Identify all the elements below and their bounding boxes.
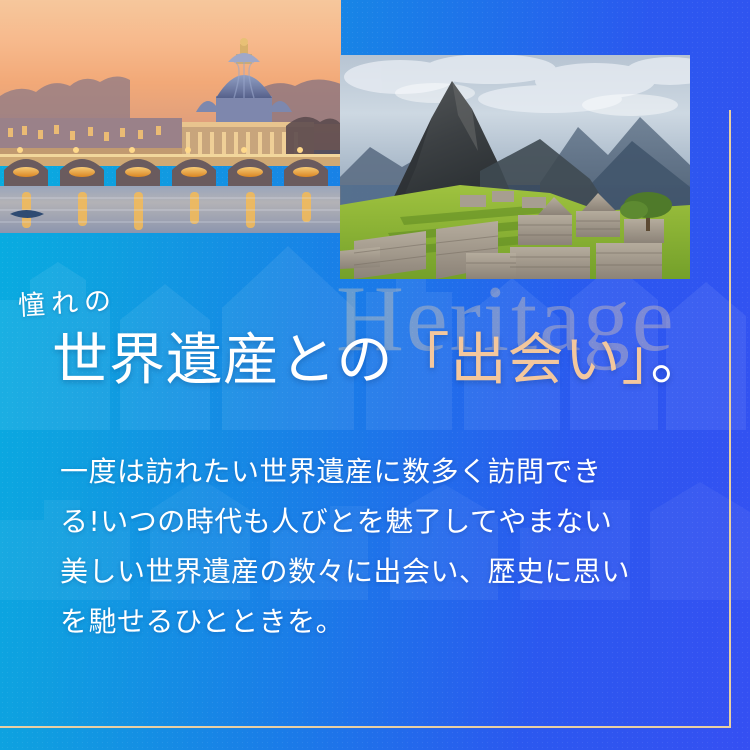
eyebrow-text: 憧れの	[17, 279, 118, 323]
body-copy: 一度は訪れたい世界遺産に数多く訪問でき る!いつの時代も人びとを魅了してやまない…	[60, 447, 670, 647]
photo-st-peters-basilica-rome	[0, 0, 341, 233]
headline-period: 。	[650, 328, 707, 393]
headline-accent: 「出会い」	[393, 328, 650, 393]
body-line-4: を馳せるひとときを。	[60, 597, 670, 647]
photo-machu-picchu-peru	[340, 55, 690, 279]
body-line-1: 一度は訪れたい世界遺産に数多く訪問でき	[60, 447, 670, 497]
page-title: 世界遺産との「出会い」。	[52, 331, 707, 391]
gold-frame-vertical-rule	[729, 110, 731, 728]
body-line-2: る!いつの時代も人びとを魅了してやまない	[60, 497, 670, 547]
headline-line1: 世界遺産との	[52, 328, 393, 393]
gold-frame-horizontal-rule	[0, 726, 731, 728]
body-line-3: 美しい世界遺産の数々に出会い、歴史に思い	[60, 547, 670, 597]
hero-banner: Heritage 憧れの 世界遺産との「出会い」。 一度は訪れたい世界遺産に数多…	[0, 0, 750, 750]
